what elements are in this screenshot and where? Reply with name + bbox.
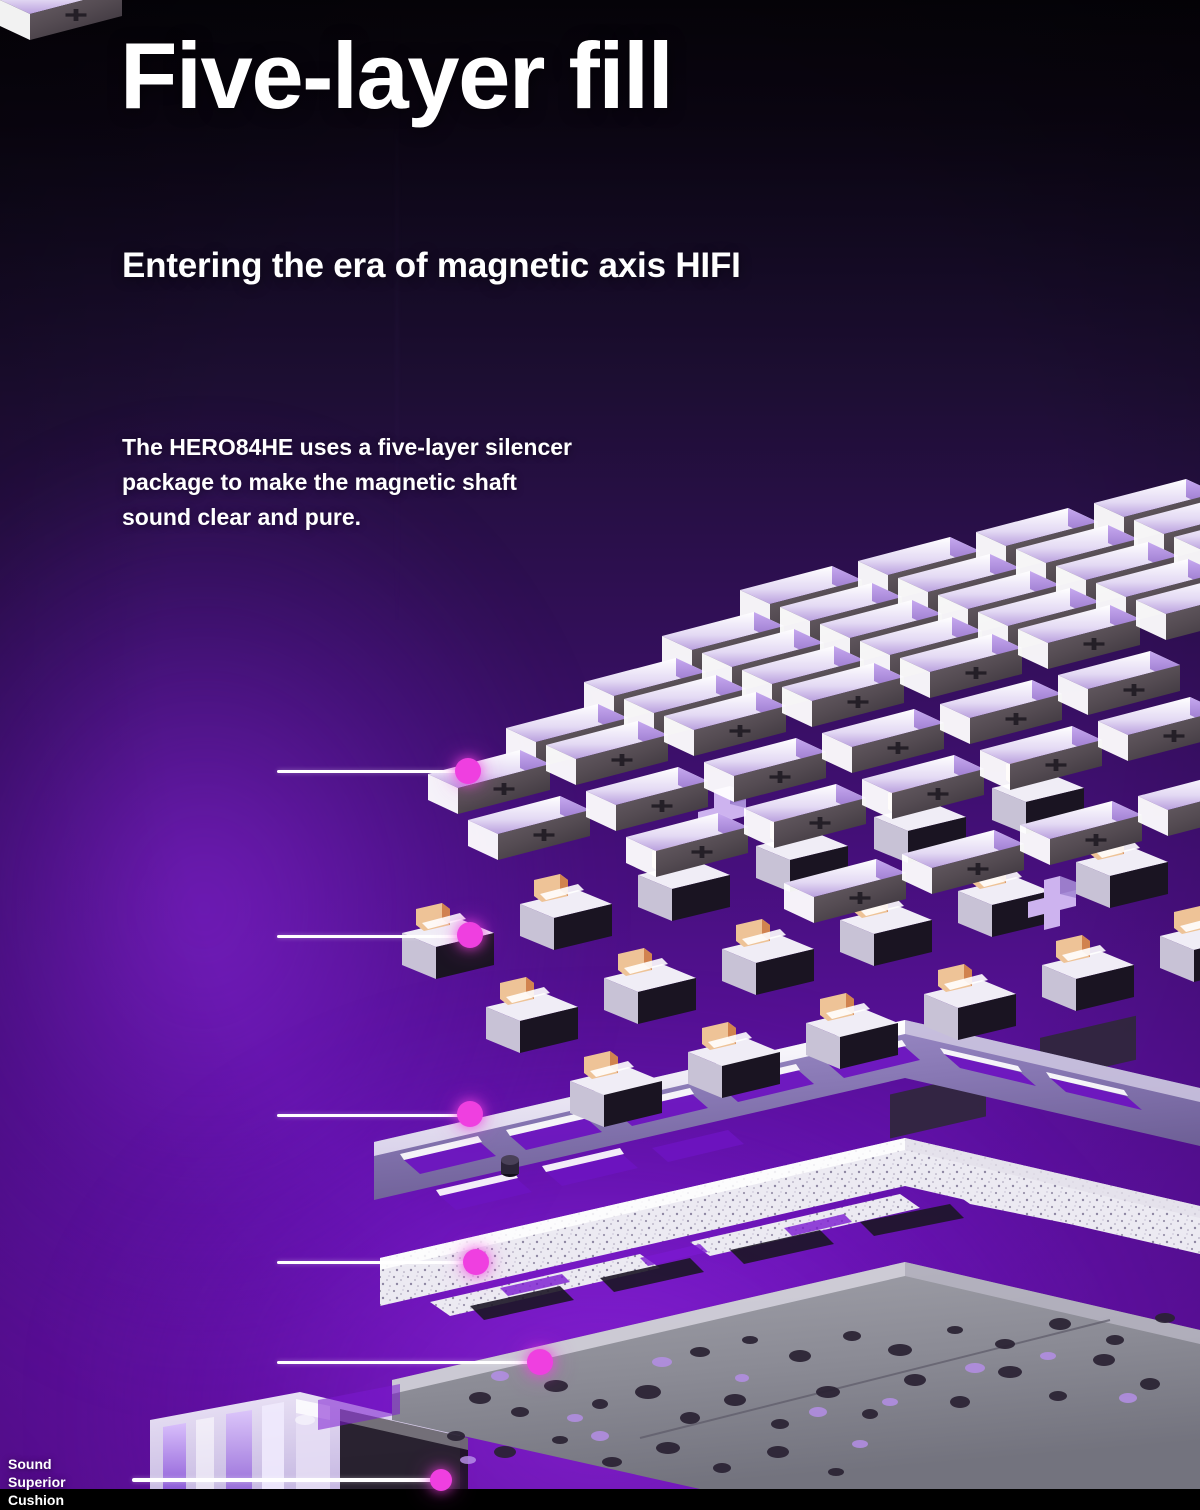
callout-leader-line bbox=[277, 1261, 475, 1264]
callout-marker-dot bbox=[457, 1101, 483, 1127]
callout-label-sound-superior-cushion: Sound Superior Cushion bbox=[8, 1455, 66, 1510]
callout-leader-line bbox=[277, 770, 467, 773]
callout-leader-line bbox=[132, 1478, 442, 1482]
description-line-3: sound clear and pure. bbox=[122, 500, 572, 535]
callout-leader-line bbox=[277, 1361, 539, 1364]
callout-leader-line bbox=[277, 1114, 469, 1117]
description-line-2: package to make the magnetic shaft bbox=[122, 465, 572, 500]
callout-marker-dot bbox=[463, 1249, 489, 1275]
callout-marker-dot bbox=[457, 922, 483, 948]
callout-leader-line bbox=[277, 935, 469, 938]
description-line-1: The HERO84HE uses a five-layer silencer bbox=[122, 430, 572, 465]
page-title: Five-layer fill bbox=[120, 26, 672, 126]
exploded-keyboard-illustration bbox=[0, 0, 1200, 1489]
callout-marker-dot bbox=[527, 1349, 553, 1375]
page-subtitle: Entering the era of magnetic axis HIFI bbox=[122, 246, 741, 286]
callout-marker-dot bbox=[430, 1469, 452, 1491]
callout-marker-dot bbox=[455, 758, 481, 784]
page-description: The HERO84HE uses a five-layer silencer … bbox=[122, 430, 572, 535]
